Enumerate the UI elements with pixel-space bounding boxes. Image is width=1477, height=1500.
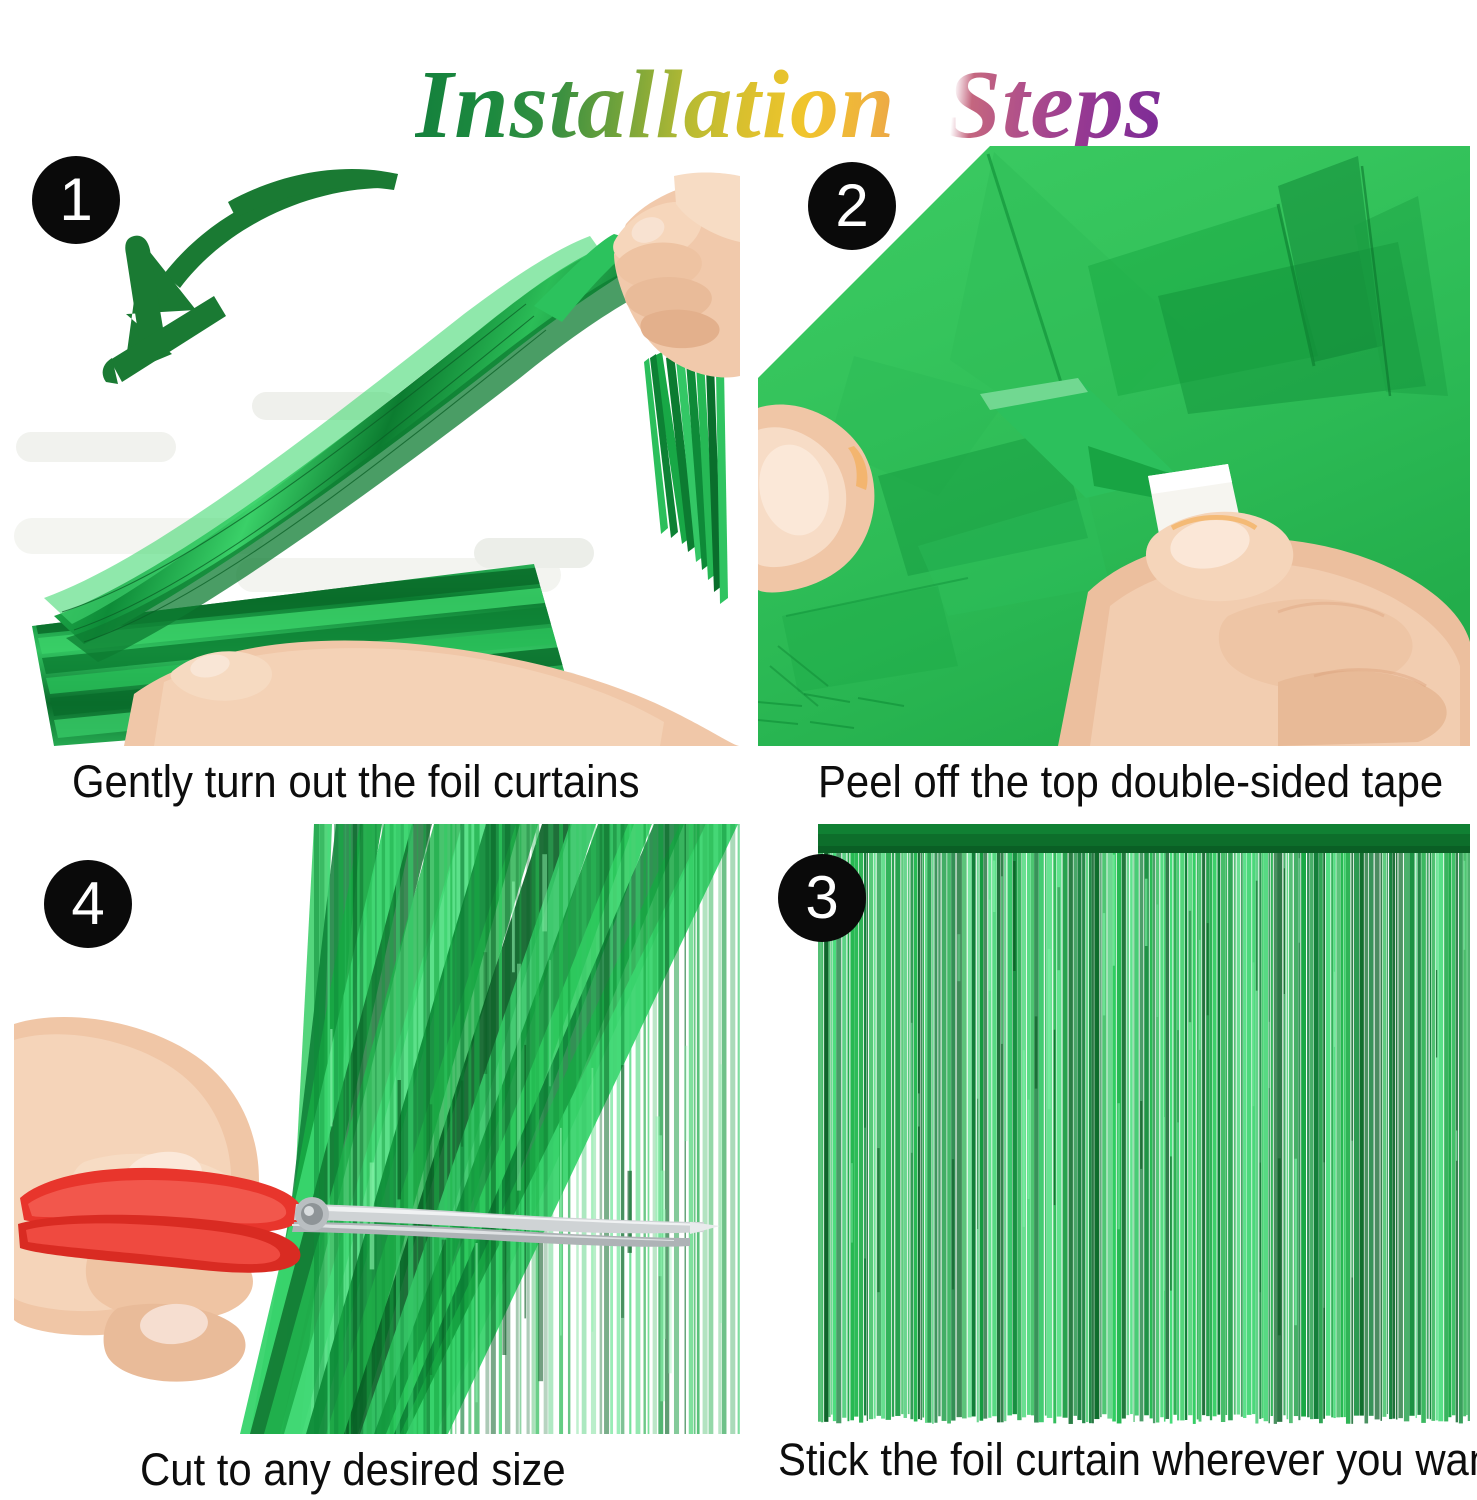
step-1-image bbox=[14, 146, 740, 746]
hand-upper-right bbox=[613, 172, 740, 377]
hanging-strand-tails bbox=[644, 352, 728, 604]
step-badge-4-number: 4 bbox=[71, 874, 104, 934]
step-badge-1: 1 bbox=[32, 156, 120, 244]
step-badge-2: 2 bbox=[808, 162, 896, 250]
page-header: Installation Steps Installation Steps bbox=[0, 0, 1477, 112]
step-badge-4: 4 bbox=[44, 860, 132, 948]
step-4-caption: Cut to any desired size bbox=[140, 1444, 566, 1496]
step-card-2: 2 Peel off the top double-sided tape bbox=[758, 146, 1470, 806]
step-badge-3-number: 3 bbox=[805, 868, 838, 928]
step-2-caption: Peel off the top double-sided tape bbox=[818, 756, 1443, 808]
step-3-image bbox=[818, 824, 1470, 1424]
step-1-caption: Gently turn out the foil curtains bbox=[72, 756, 640, 808]
direction-arrow-icon bbox=[103, 169, 398, 384]
step-3-caption: Stick the foil curtain wherever you want bbox=[778, 1434, 1477, 1486]
step-card-3: 3 Stick the foil curtain wherever you wa… bbox=[758, 824, 1470, 1494]
step-card-1: 1 Gently turn out the foil curtains bbox=[14, 146, 740, 806]
steps-grid: 1 Gently turn out the foil curtains bbox=[0, 112, 1477, 1500]
step-badge-2-number: 2 bbox=[835, 176, 868, 236]
step-badge-3: 3 bbox=[778, 854, 866, 942]
hand-lower-left bbox=[124, 641, 740, 746]
step-badge-1-number: 1 bbox=[59, 170, 92, 230]
step-card-4: 4 Cut to any desired size bbox=[14, 824, 740, 1494]
